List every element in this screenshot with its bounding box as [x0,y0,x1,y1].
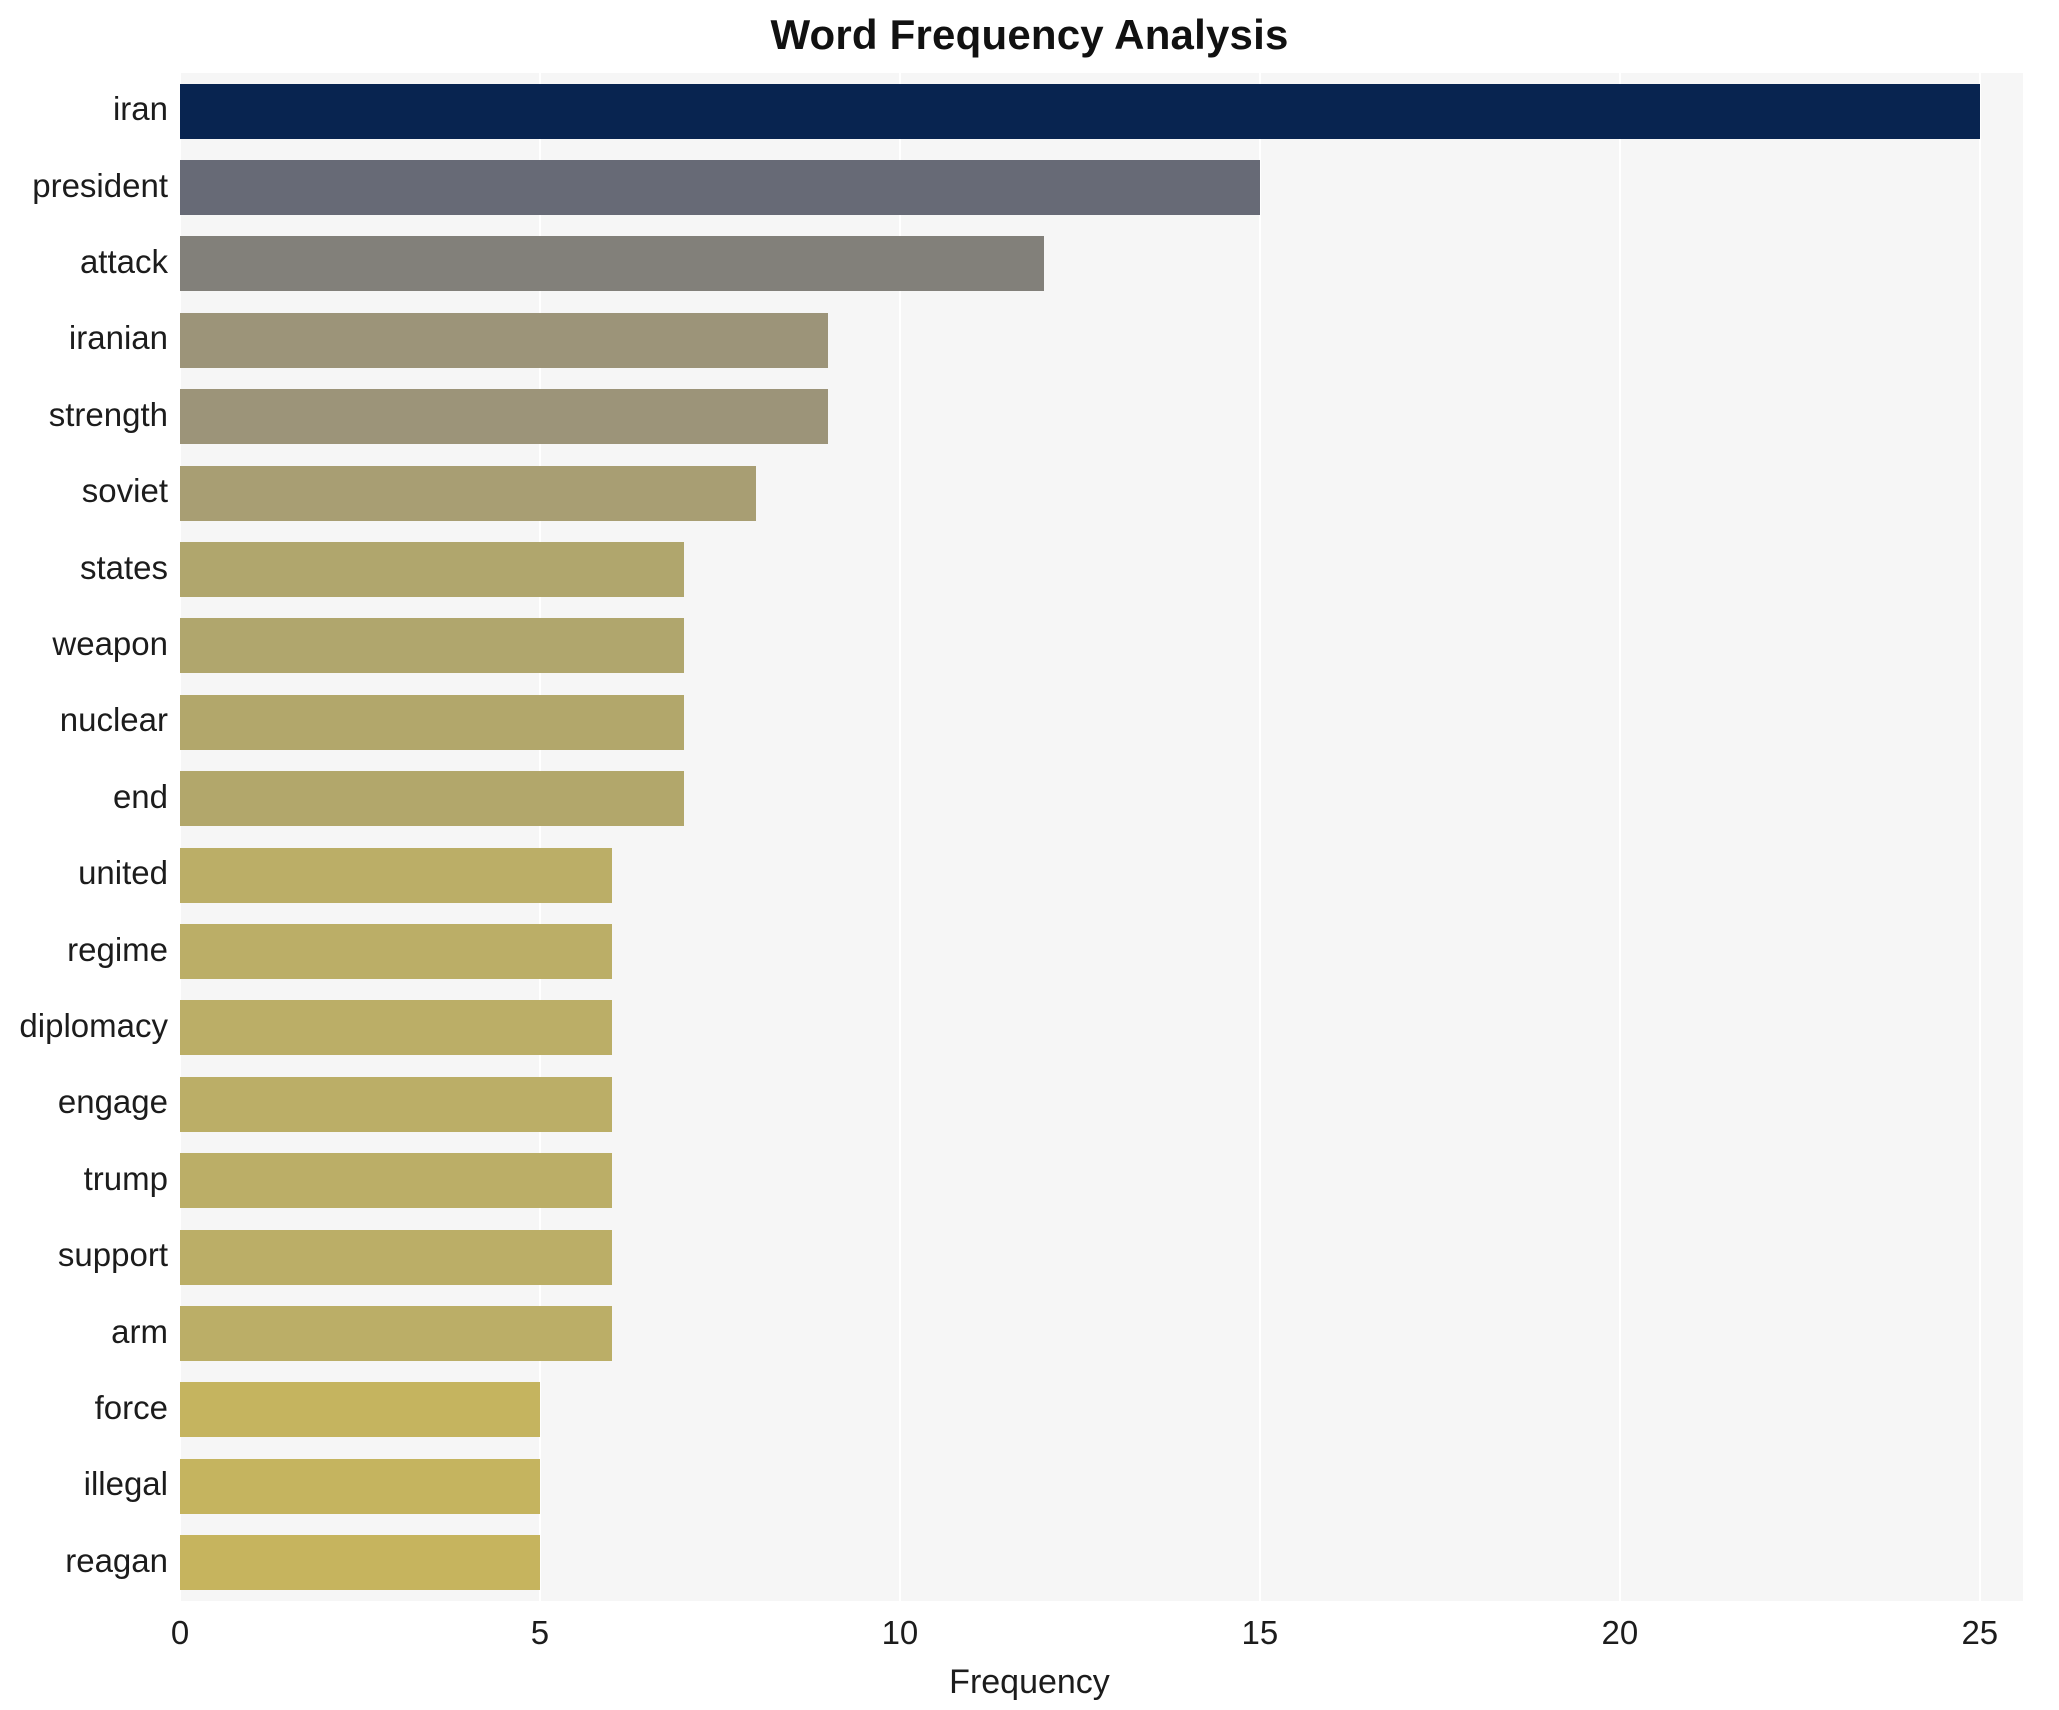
bar-president[interactable] [180,160,1260,215]
y-tick-label-end: end [0,778,168,816]
bar-row[interactable] [180,466,2023,521]
bar-row[interactable] [180,160,2023,215]
bar-end[interactable] [180,771,684,826]
bar-row[interactable] [180,1153,2023,1208]
bar-row[interactable] [180,695,2023,750]
bar-iranian[interactable] [180,313,828,368]
bar-row[interactable] [180,542,2023,597]
bar-row[interactable] [180,1077,2023,1132]
y-tick-label-reagan: reagan [0,1542,168,1580]
x-tick-label-15: 15 [1242,1614,1279,1652]
bar-regime[interactable] [180,924,612,979]
y-tick-label-iran: iran [0,90,168,128]
x-axis-tick-labels: 0510152025 [0,1614,2059,1660]
y-tick-label-strength: strength [0,396,168,434]
bar-support[interactable] [180,1230,612,1285]
x-tick-label-0: 0 [171,1614,189,1652]
y-tick-label-regime: regime [0,931,168,969]
bar-force[interactable] [180,1382,540,1437]
bar-row[interactable] [180,236,2023,291]
y-tick-label-attack: attack [0,243,168,281]
y-tick-label-support: support [0,1236,168,1274]
bar-attack[interactable] [180,236,1044,291]
bar-row[interactable] [180,389,2023,444]
bar-row[interactable] [180,1382,2023,1437]
x-tick-label-25: 25 [1961,1614,1998,1652]
bar-strength[interactable] [180,389,828,444]
y-tick-label-nuclear: nuclear [0,701,168,739]
bar-weapon[interactable] [180,618,684,673]
bar-trump[interactable] [180,1153,612,1208]
bar-row[interactable] [180,1230,2023,1285]
bar-iran[interactable] [180,84,1980,139]
bar-row[interactable] [180,1000,2023,1055]
bar-row[interactable] [180,313,2023,368]
bar-row[interactable] [180,771,2023,826]
x-tick-label-5: 5 [531,1614,549,1652]
bar-soviet[interactable] [180,466,756,521]
y-tick-label-iranian: iranian [0,319,168,357]
y-tick-label-weapon: weapon [0,625,168,663]
bar-arm[interactable] [180,1306,612,1361]
y-tick-label-force: force [0,1389,168,1427]
bar-row[interactable] [180,618,2023,673]
plot-area [180,73,2023,1601]
bar-row[interactable] [180,924,2023,979]
y-tick-label-president: president [0,167,168,205]
y-tick-label-illegal: illegal [0,1465,168,1503]
bar-united[interactable] [180,848,612,903]
word-frequency-chart: Word Frequency Analysis iranpresidentatt… [0,0,2059,1710]
y-tick-label-trump: trump [0,1160,168,1198]
bar-row[interactable] [180,1459,2023,1514]
bar-diplomacy[interactable] [180,1000,612,1055]
y-tick-label-diplomacy: diplomacy [0,1007,168,1045]
y-axis-tick-labels: iranpresidentattackiranianstrengthsoviet… [0,73,168,1601]
y-tick-label-arm: arm [0,1313,168,1351]
y-tick-label-soviet: soviet [0,472,168,510]
bar-row[interactable] [180,848,2023,903]
bar-engage[interactable] [180,1077,612,1132]
bar-reagan[interactable] [180,1535,540,1590]
y-tick-label-engage: engage [0,1083,168,1121]
y-tick-label-united: united [0,854,168,892]
bar-row[interactable] [180,84,2023,139]
chart-title: Word Frequency Analysis [0,8,2059,62]
x-tick-label-20: 20 [1601,1614,1638,1652]
x-axis-title: Frequency [0,1663,2059,1702]
x-tick-label-10: 10 [882,1614,919,1652]
bar-row[interactable] [180,1535,2023,1590]
bar-row[interactable] [180,1306,2023,1361]
bar-states[interactable] [180,542,684,597]
bar-illegal[interactable] [180,1459,540,1514]
bar-nuclear[interactable] [180,695,684,750]
bar-series [180,73,2023,1601]
y-tick-label-states: states [0,549,168,587]
